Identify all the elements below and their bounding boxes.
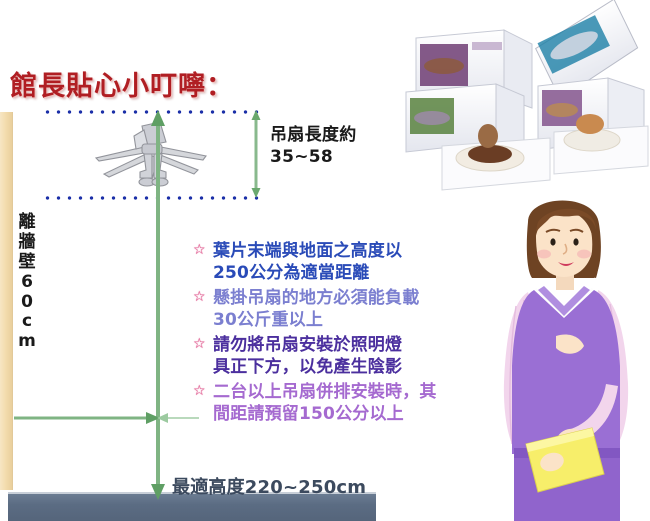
star-icon: ☆	[193, 243, 206, 257]
ceiling-height-arrow	[149, 110, 167, 500]
wall-label-char: 0	[14, 293, 40, 313]
list-item: ☆ 請勿將吊扇安裝於照明燈 具正下方，以免產生陰影	[193, 334, 493, 379]
wall-label-char: 6	[14, 273, 40, 293]
fan-length-arrow	[250, 110, 262, 198]
tip-text: 二台以上吊扇併排安裝時，其 間距請預留150公分以上	[213, 382, 437, 424]
staff-illustration	[468, 186, 650, 521]
wall-distance-label: 離 牆 壁 6 0 c m	[14, 213, 40, 352]
star-icon: ☆	[193, 337, 206, 351]
tip-text: 請勿將吊扇安裝於照明燈 具正下方，以免產生陰影	[213, 335, 402, 377]
star-icon: ☆	[193, 384, 206, 398]
optimal-height-label: 最適高度220~250cm	[172, 473, 366, 499]
infographic-canvas: 館長貼心小叮嚀：	[0, 0, 650, 521]
product-boxes-photo	[392, 0, 650, 196]
tip-text: 葉片末端與地面之高度以 250公分為適當距離	[213, 241, 402, 283]
list-item: ☆ 葉片末端與地面之高度以 250公分為適當距離	[193, 240, 493, 285]
list-item: ☆ 二台以上吊扇併排安裝時，其 間距請預留150公分以上	[193, 381, 493, 426]
tip-text: 懸掛吊扇的地方必須能負載 30公斤重以上	[213, 288, 419, 330]
wall-strip	[0, 112, 13, 490]
page-title: 館長貼心小叮嚀：	[10, 64, 234, 103]
star-icon: ☆	[193, 290, 206, 304]
fan-length-label: 吊扇長度約 35~58	[270, 125, 357, 169]
wall-label-char: c	[14, 312, 40, 332]
tips-list: ☆ 葉片末端與地面之高度以 250公分為適當距離 ☆ 懸掛吊扇的地方必須能負載 …	[193, 240, 493, 428]
wall-label-char: 壁	[14, 253, 40, 273]
wall-label-char: m	[14, 332, 40, 352]
list-item: ☆ 懸掛吊扇的地方必須能負載 30公斤重以上	[193, 287, 493, 332]
wall-label-char: 牆	[14, 233, 40, 253]
wall-label-char: 離	[14, 213, 40, 233]
wall-distance-arrow	[10, 410, 160, 426]
